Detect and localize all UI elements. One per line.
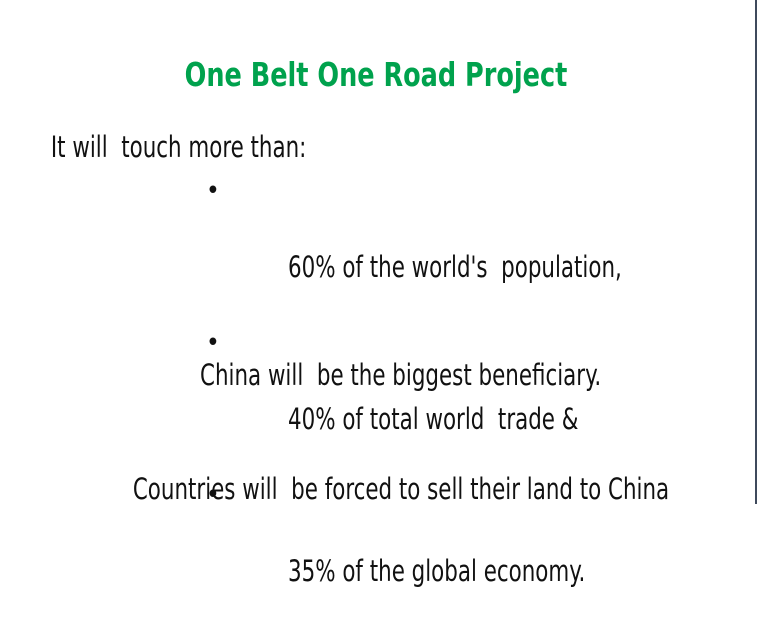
list-item: • 60% of the world's population, xyxy=(0,172,752,324)
slide-closing-statements: China will be the biggest beneficiary. C… xyxy=(0,318,752,546)
closing-line-beneficiary: China will be the biggest beneficiary. xyxy=(0,318,752,432)
list-item-label: 35% of the global economy. xyxy=(288,552,585,590)
intro-text: It will touch more than: xyxy=(0,128,617,166)
closing-line-land-sale: Countries will be forced to sell their l… xyxy=(0,432,752,546)
page-title: One Belt One Road Project xyxy=(53,55,700,95)
closing-line-beneficiary-text: China will be the biggest beneficiary. xyxy=(200,356,601,394)
slide-right-edge-rule xyxy=(755,0,757,504)
bullet-dot-icon: • xyxy=(206,172,217,210)
closing-line-land-sale-text: Countries will be forced to sell their l… xyxy=(133,470,669,508)
list-item-label: 60% of the world's population, xyxy=(288,248,622,286)
presentation-slide: One Belt One Road Project It will touch … xyxy=(0,0,760,504)
